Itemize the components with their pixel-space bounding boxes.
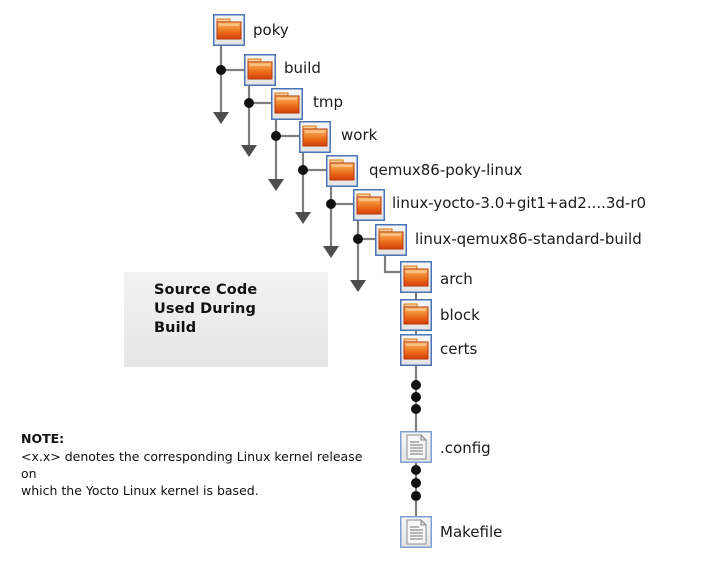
node-label-linux-qemux86-standard-build: linux-qemux86-standard-build: [415, 232, 642, 247]
folder-icon-linux-qemux86-standard-build[interactable]: [375, 224, 407, 256]
node-label-makefile: Makefile: [440, 525, 502, 540]
folder-icon-block[interactable]: [400, 299, 432, 331]
folder-icon-poky[interactable]: [213, 14, 245, 46]
folder-icon-tmp[interactable]: [271, 88, 303, 120]
node-label-poky: poky: [253, 23, 289, 38]
node-label-block: block: [440, 308, 480, 323]
folder-icon-build[interactable]: [244, 54, 276, 86]
diagram-canvas: Source Code Used During Build NOTE: <x.x…: [0, 0, 705, 581]
node-label-build: build: [284, 61, 321, 76]
folder-icon-arch[interactable]: [400, 261, 432, 293]
folder-icon-qemux86-poky-linux[interactable]: [326, 155, 358, 187]
node-label-arch: arch: [440, 272, 473, 287]
note-title: NOTE:: [21, 431, 64, 446]
note-body: <x.x> denotes the corresponding Linux ke…: [21, 448, 381, 499]
node-label-certs: certs: [440, 342, 477, 357]
node-label-linux-yocto: linux-yocto-3.0+git1+ad2....3d-r0: [392, 196, 646, 211]
node-label-config: .config: [440, 441, 491, 456]
node-label-tmp: tmp: [313, 95, 343, 110]
file-icon-makefile[interactable]: [400, 516, 432, 548]
folder-icon-work[interactable]: [299, 121, 331, 153]
folder-icon-linux-yocto[interactable]: [353, 189, 385, 221]
legend-label: Source Code Used During Build: [154, 281, 334, 338]
file-icon-config[interactable]: [400, 431, 432, 463]
node-label-work: work: [341, 128, 377, 143]
folder-icon-certs[interactable]: [400, 334, 432, 366]
node-label-qemux86-poky-linux: qemux86-poky-linux: [369, 163, 522, 178]
